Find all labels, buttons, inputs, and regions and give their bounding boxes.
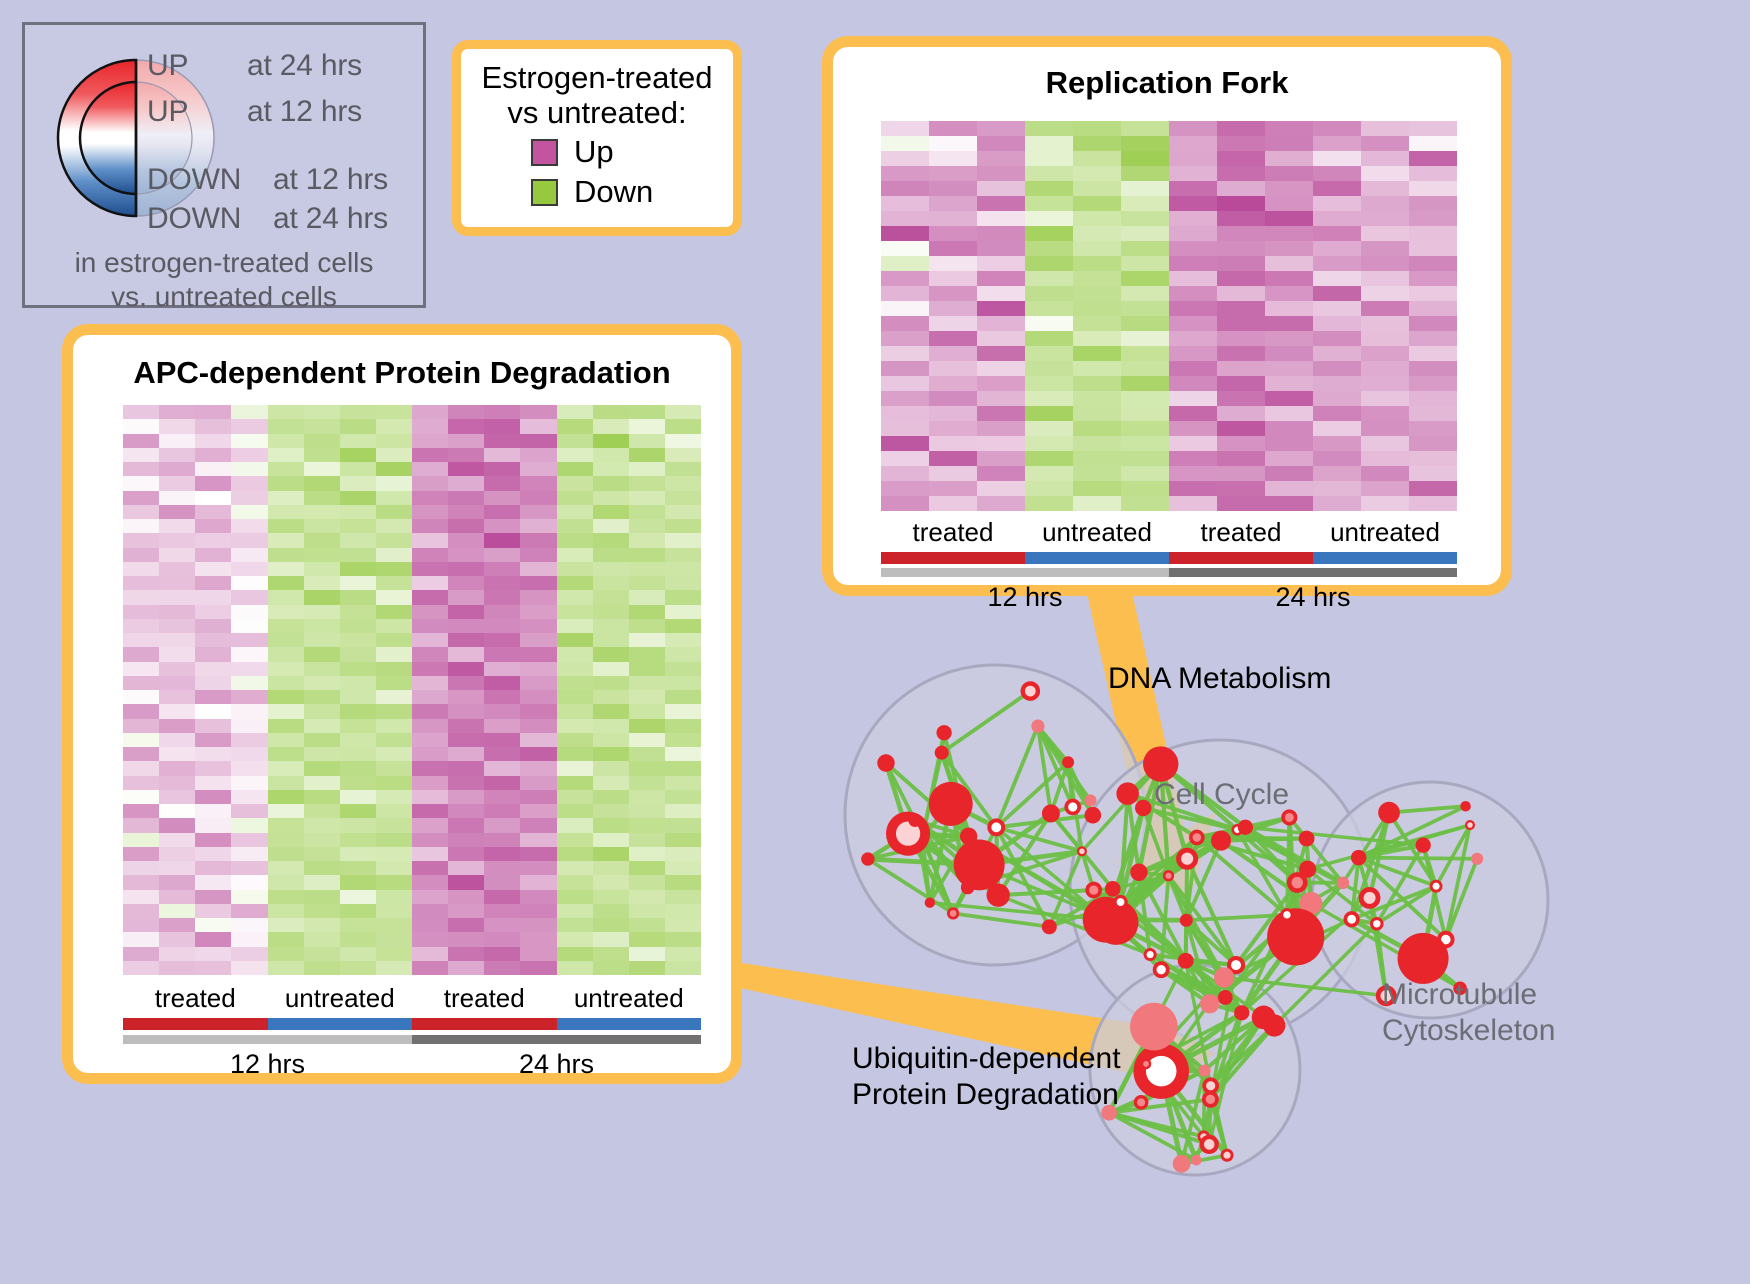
treatment-segment-1: [1025, 552, 1169, 564]
network-node-52[interactable]: [1200, 994, 1219, 1013]
network-node-26[interactable]: [1178, 953, 1194, 969]
legend-row-0-time: at 24 hrs: [247, 49, 362, 83]
network-node-22-core: [950, 910, 957, 917]
rf-group-label-3: untreated: [1313, 517, 1457, 548]
network-node-39[interactable]: [1299, 831, 1315, 847]
legend-row-2-time: at 12 hrs: [273, 163, 388, 197]
time-segment-0: [123, 1035, 412, 1044]
network-node-51[interactable]: [1130, 864, 1147, 881]
network-node-49[interactable]: [1238, 820, 1253, 835]
network-label-microtubule-line2: Cytoskeleton: [1382, 1014, 1555, 1048]
rf-group-label-2: treated: [1169, 517, 1313, 548]
legend-item-down-label: Down: [574, 174, 653, 210]
network-node-2[interactable]: [1062, 756, 1074, 768]
network-node-57[interactable]: [1351, 850, 1366, 865]
network-label-microtubule-line1: Microtubule: [1382, 978, 1537, 1012]
network-node-7[interactable]: [925, 897, 935, 907]
network-node-75-core: [1143, 1061, 1149, 1067]
legend-updown-title-line2: vs untreated:: [461, 96, 733, 131]
network-node-55-core: [1285, 813, 1294, 822]
time-segment-1: [412, 1035, 701, 1044]
network-node-82-core: [1204, 1139, 1215, 1150]
legend-updown-title-line1: Estrogen-treated: [461, 61, 733, 96]
network-label-ubiquitin-line2: Protein Degradation: [852, 1078, 1119, 1112]
network-node-6[interactable]: [877, 754, 894, 771]
network-node-32-core: [1231, 960, 1241, 970]
legend-key-box: UP at 24 hrs UP at 12 hrs DOWN at 12 hrs…: [22, 22, 426, 308]
heatmap-apc-degradation: [123, 405, 701, 975]
down-color-swatch: [531, 179, 558, 206]
legend-row-3-direction: DOWN: [147, 202, 241, 236]
network-node-48[interactable]: [1214, 967, 1234, 987]
network-node-67[interactable]: [1378, 802, 1400, 824]
network-node-54-core: [1193, 833, 1202, 842]
network-diagram: DNA Metabolism Cell Cycle Microtubule Cy…: [790, 600, 1750, 1279]
network-node-36[interactable]: [1135, 800, 1151, 816]
network-node-78[interactable]: [1252, 1006, 1276, 1030]
network-label-ubiquitin-line1: Ubiquitin-dependent: [852, 1042, 1121, 1076]
network-node-3-core: [1089, 885, 1098, 894]
legend-caption-line2: vs. untreated cells: [25, 281, 423, 313]
network-node-69[interactable]: [1398, 933, 1449, 984]
network-node-58-core: [1364, 892, 1376, 904]
rf-group-label-1: untreated: [1025, 517, 1169, 548]
network-node-83[interactable]: [1130, 1003, 1178, 1051]
network-node-25[interactable]: [908, 814, 921, 827]
network-node-30[interactable]: [1143, 746, 1178, 781]
network-node-15-core: [1025, 686, 1036, 697]
apc-group-label-2: treated: [412, 983, 557, 1014]
network-node-85[interactable]: [1191, 1155, 1202, 1166]
network-node-60-core: [1467, 822, 1473, 828]
apc-time-label-0: 12 hrs: [123, 1049, 412, 1080]
time-segment-1: [1169, 568, 1457, 577]
network-node-50[interactable]: [1218, 990, 1233, 1005]
legend-row-1-time: at 12 hrs: [247, 95, 362, 129]
network-node-47-core: [1283, 911, 1290, 918]
panel-apc-degradation: APC-dependent Protein Degradation treate…: [62, 324, 742, 1084]
legend-caption-line1: in estrogen-treated cells: [25, 247, 423, 279]
network-node-13-core: [1068, 802, 1077, 811]
network-node-43-core: [1181, 853, 1193, 865]
time-segment-0: [881, 568, 1169, 577]
rf-group-label-0: treated: [881, 517, 1025, 548]
network-node-79-core: [1206, 1095, 1215, 1104]
legend-row-2-direction: DOWN: [147, 163, 241, 197]
network-node-11[interactable]: [1042, 919, 1057, 934]
heatmap-replication-fork: [881, 121, 1457, 511]
rf-time-bar: [881, 568, 1457, 577]
legend-row-1-direction: UP: [147, 95, 188, 129]
legend-row-0-direction: UP: [147, 49, 188, 83]
network-node-74-core: [1146, 1056, 1177, 1087]
apc-time-bar: [123, 1035, 701, 1044]
network-node-38-core: [1147, 951, 1154, 958]
network-node-1[interactable]: [1084, 794, 1096, 806]
network-node-27-core: [1157, 965, 1166, 974]
treatment-segment-2: [412, 1018, 557, 1030]
network-label-cell-cycle: Cell Cycle: [1154, 778, 1289, 812]
network-node-77[interactable]: [1173, 1155, 1191, 1173]
network-node-42-core: [1117, 898, 1125, 906]
network-node-56[interactable]: [1416, 838, 1431, 853]
network-node-63-core: [1347, 915, 1356, 924]
network-node-41[interactable]: [1299, 861, 1316, 878]
treatment-segment-0: [123, 1018, 268, 1030]
network-node-68-core: [1433, 883, 1440, 890]
network-node-53[interactable]: [1180, 914, 1193, 927]
network-node-4[interactable]: [929, 782, 973, 826]
network-node-29-core: [1292, 877, 1303, 888]
network-node-10[interactable]: [1042, 804, 1060, 822]
legend-item-up: Up: [531, 134, 733, 170]
network-node-12[interactable]: [935, 746, 949, 760]
treatment-segment-3: [1313, 552, 1457, 564]
network-node-5-core: [991, 822, 1001, 832]
network-node-0[interactable]: [1085, 807, 1102, 824]
network-node-9[interactable]: [1105, 881, 1121, 897]
treatment-segment-1: [268, 1018, 413, 1030]
network-node-65[interactable]: [1471, 853, 1483, 865]
network-node-44[interactable]: [1267, 908, 1324, 965]
treatment-segment-2: [1169, 552, 1313, 564]
network-node-70-core: [1206, 1081, 1215, 1090]
panel-replication-fork: Replication Fork treated untreated treat…: [822, 36, 1512, 596]
apc-group-label-3: untreated: [557, 983, 702, 1014]
apc-group-label-0: treated: [123, 983, 268, 1014]
apc-group-label-1: untreated: [268, 983, 413, 1014]
rf-treatment-bar: [881, 552, 1457, 564]
network-node-46[interactable]: [1116, 782, 1139, 805]
network-node-34[interactable]: [1211, 831, 1231, 851]
network-node-24[interactable]: [954, 839, 1005, 890]
apc-treatment-bar: [123, 1018, 701, 1030]
network-node-23[interactable]: [936, 725, 951, 740]
network-node-73[interactable]: [1234, 1009, 1244, 1019]
network-node-18[interactable]: [861, 852, 874, 865]
treatment-segment-0: [881, 552, 1025, 564]
legend-item-up-label: Up: [574, 134, 614, 170]
network-node-59-core: [1373, 920, 1380, 927]
legend-item-down: Down: [531, 174, 733, 210]
network-node-66[interactable]: [1460, 801, 1471, 812]
network-node-80-core: [1223, 1152, 1230, 1159]
network-label-dna-metabolism: DNA Metabolism: [1108, 662, 1331, 696]
legend-updown-box: Estrogen-treated vs untreated: Up Down: [452, 40, 742, 236]
apc-time-label-1: 24 hrs: [412, 1049, 701, 1080]
legend-row-3-time: at 24 hrs: [273, 202, 388, 236]
up-color-swatch: [531, 139, 558, 166]
network-node-31-core: [1165, 873, 1171, 879]
network-node-45[interactable]: [1337, 877, 1349, 889]
treatment-segment-3: [557, 1018, 702, 1030]
network-node-20[interactable]: [1031, 720, 1044, 733]
network-node-71[interactable]: [1198, 1065, 1210, 1077]
panel-replication-fork-title: Replication Fork: [833, 65, 1501, 101]
network-node-72-core: [1137, 1098, 1145, 1106]
panel-apc-title: APC-dependent Protein Degradation: [73, 355, 731, 391]
network-node-17-core: [1079, 849, 1085, 855]
